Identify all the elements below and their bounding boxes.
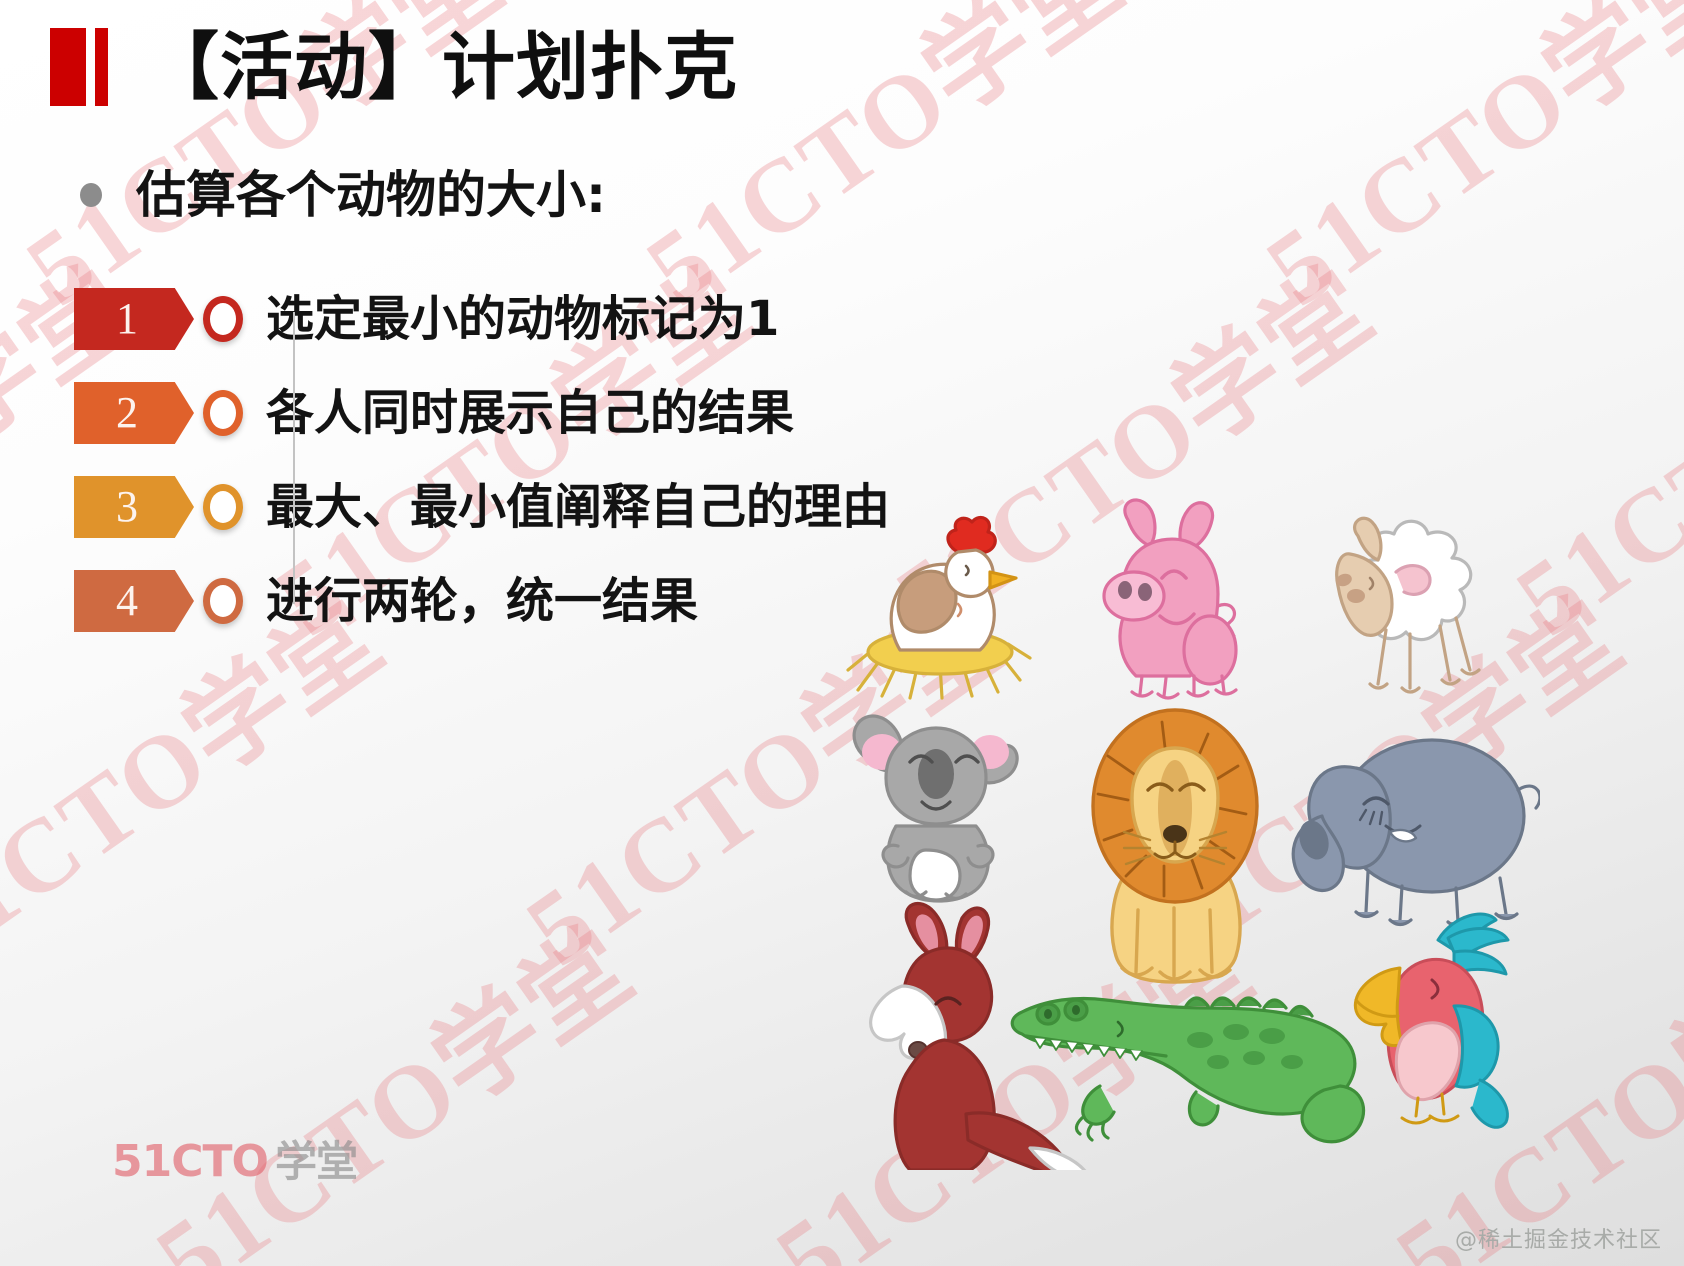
bullet-row: 估算各个动物的大小: (80, 170, 606, 220)
step-text: 进行两轮，统一结果 (266, 577, 698, 625)
watermark-text: 51CTO学堂 (1230, 0, 1684, 334)
steps-list: 1选定最小的动物标记为12各人同时展示自己的结果3最大、最小值阐释自己的理由4进… (74, 272, 954, 648)
step-chevron[interactable]: 2 (74, 382, 194, 444)
step-ring-icon (203, 578, 243, 624)
crocodile-illustration (1000, 970, 1370, 1150)
step-ring-icon (203, 390, 243, 436)
koala-illustration (830, 700, 1040, 910)
step-chevron[interactable]: 3 (74, 476, 194, 538)
step-ring-icon (203, 296, 243, 342)
page-title: 【活动】计划扑克 (50, 28, 738, 106)
bullet-text: 估算各个动物的大小: (136, 170, 606, 220)
step-number: 1 (116, 297, 138, 341)
title-bar-wide (50, 28, 86, 106)
watermark-text: 51CTO学堂 (980, 0, 1517, 4)
step-number: 2 (116, 391, 138, 435)
elephant-illustration (1260, 720, 1540, 940)
sheep-illustration (1300, 500, 1510, 700)
step-text: 选定最小的动物标记为1 (266, 295, 779, 343)
step-marker (194, 484, 252, 530)
brand-logo: 51CTO 学堂 (112, 1128, 357, 1189)
watermark-text: 51CTO学堂 (0, 0, 277, 4)
pig-illustration (1070, 490, 1270, 700)
step-connector-line (293, 312, 295, 604)
step-chevron[interactable]: 4 (74, 570, 194, 632)
step-marker (194, 578, 252, 624)
double-bar-icon (50, 28, 108, 106)
round-bullet-icon (80, 183, 102, 207)
step-row[interactable]: 2各人同时展示自己的结果 (74, 366, 954, 460)
brand-logo-secondary: 学堂 (275, 1128, 357, 1189)
title-bar-thin (95, 28, 108, 106)
step-chevron[interactable]: 1 (74, 288, 194, 350)
step-text: 各人同时展示自己的结果 (266, 389, 794, 437)
step-text: 最大、最小值阐释自己的理由 (266, 483, 890, 531)
watermark-text: 51CTO学堂 (1600, 0, 1684, 4)
step-number: 3 (116, 485, 138, 529)
brand-logo-primary: 51CTO (112, 1136, 268, 1187)
watermark-text: 51CTO学堂 (360, 0, 897, 4)
corner-watermark: @稀土掘金技术社区 (1455, 1222, 1662, 1254)
watermark-text: 51CTO学堂 (120, 885, 657, 1266)
step-marker (194, 390, 252, 436)
step-row[interactable]: 4进行两轮，统一结果 (74, 554, 954, 648)
step-row[interactable]: 1选定最小的动物标记为1 (74, 272, 954, 366)
step-row[interactable]: 3最大、最小值阐释自己的理由 (74, 460, 954, 554)
title-text: 【活动】计划扑克 (146, 31, 738, 104)
step-ring-icon (203, 484, 243, 530)
parrot-illustration (1330, 908, 1530, 1138)
step-number: 4 (116, 579, 138, 623)
step-marker (194, 296, 252, 342)
